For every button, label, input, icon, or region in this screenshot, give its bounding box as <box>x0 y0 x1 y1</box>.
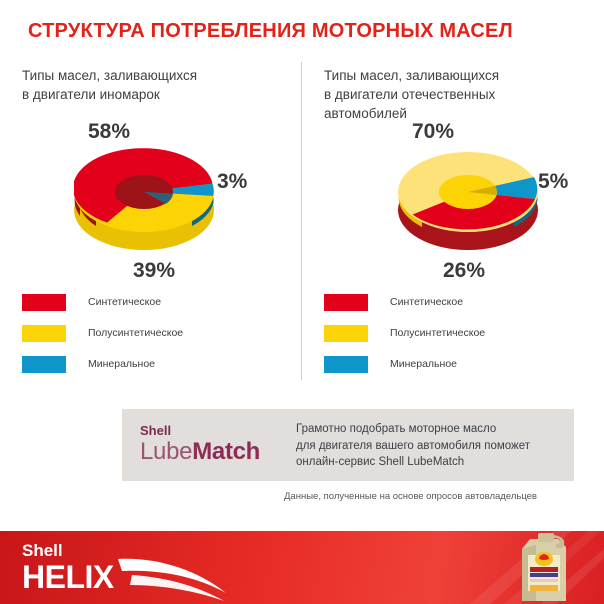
helix-product-word: HELIX <box>22 559 114 596</box>
legend-label-mineral: Минеральное <box>88 356 155 373</box>
legend-label-mineral: Минеральное <box>390 356 457 373</box>
lubematch-callout: Shell LubeMatch Грамотно подобрать мотор… <box>122 409 574 481</box>
legend-label-semisynthetic: Полусинтетическое <box>390 325 485 342</box>
chart-panel-foreign: Типы масел, заливающихся в двигатели ино… <box>0 60 300 390</box>
legend-swatch-mineral <box>324 356 368 373</box>
helix-logo: Shell HELIX <box>22 541 242 597</box>
helix-shell-word: Shell <box>22 541 63 561</box>
legend-swatch-semisynthetic <box>324 325 368 342</box>
lubematch-match-word: Match <box>192 438 260 465</box>
legend-label-semisynthetic: Полусинтетическое <box>88 325 183 342</box>
pct-label-top-right: 70% <box>412 120 454 144</box>
page-title: СТРУКТУРА ПОТРЕБЛЕНИЯ МОТОРНЫХ МАСЕЛ <box>28 20 513 43</box>
legend-swatch-mineral <box>22 356 66 373</box>
legend-swatch-synthetic <box>324 294 368 311</box>
panel-heading-foreign: Типы масел, заливающихся в двигатели ино… <box>22 66 197 104</box>
lubematch-description: Грамотно подобрать моторное масло для дв… <box>296 421 530 471</box>
shell-helix-banner: Shell HELIX DRIVE ON™ *Только вперёд! <box>0 531 604 604</box>
legend-swatch-semisynthetic <box>22 325 66 342</box>
infographic-page: СТРУКТУРА ПОТРЕБЛЕНИЯ МОТОРНЫХ МАСЕЛ Тип… <box>0 0 604 604</box>
donut-chart-domestic <box>398 148 548 268</box>
donut-svg-domestic <box>398 148 548 268</box>
lubematch-name: LubeMatch <box>140 438 280 465</box>
chart-panel-domestic: Типы масел, заливающихся в двигатели оте… <box>302 60 604 390</box>
lubematch-logo: Shell LubeMatch <box>140 423 280 465</box>
panel-heading-domestic: Типы масел, заливающихся в двигатели оте… <box>324 66 499 123</box>
pct-label-top-left: 58% <box>88 120 130 144</box>
donut-svg-foreign <box>74 148 224 268</box>
donut-chart-foreign <box>74 148 224 268</box>
lubematch-lube-word: Lube <box>140 438 192 465</box>
legend-label-synthetic: Синтетическое <box>390 294 463 311</box>
lubematch-shell-word: Shell <box>140 423 280 438</box>
source-footnote: Данные, полученные на основе опросов авт… <box>284 491 537 502</box>
oil-bottle-icon <box>510 531 580 604</box>
legend-label-synthetic: Синтетическое <box>88 294 161 311</box>
legend-swatch-synthetic <box>22 294 66 311</box>
